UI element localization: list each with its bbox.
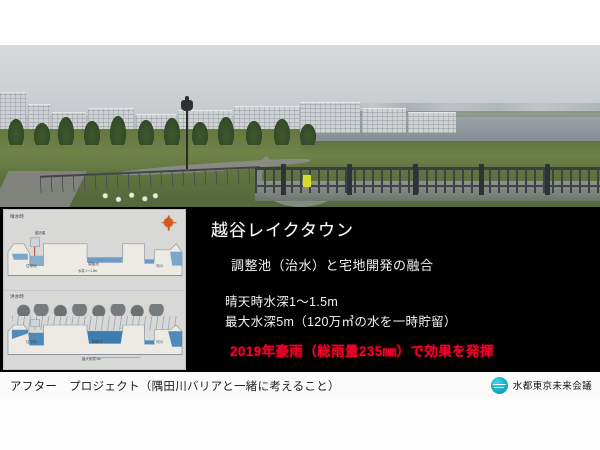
top-white-margin: [0, 0, 600, 45]
diagram-flood-depth-caption: 最大水深 5m: [82, 356, 101, 361]
diagram-fair-gate-caption: 越流堰: [35, 230, 45, 235]
page-title: 越谷レイクタウン: [211, 216, 354, 241]
detail-line-2: 最大水深5m（120万㎥の水を一時貯留）: [225, 311, 457, 330]
diagram-flood: 洪水時 住宅地 調整池 最大水深 5m 河川: [4, 290, 185, 370]
park-lake-photo: [0, 45, 600, 207]
diagram-fair-left-caption: 住宅地: [26, 264, 37, 269]
organization-name: 水都東京未来会議: [513, 378, 592, 392]
water-city-circle-icon: [491, 377, 508, 394]
street-lamp-finial: [185, 96, 189, 101]
diagram-fair-weather: 晴水時 住宅地 調整池 水深 1〜1.5m 河川 越流堰: [4, 210, 185, 290]
diagram-flood-left-caption: 住宅地: [26, 340, 37, 345]
caption-text: アフター プロジェクト（隅田川バリアと一緒に考えること）: [10, 378, 340, 394]
subtitle: 調整池（治水）と宅地開発の融合: [231, 255, 434, 274]
diagram-fair-basin-caption: 調整池: [88, 262, 99, 267]
flower-patch: [96, 191, 162, 203]
street-lamp-head: [181, 100, 193, 111]
bottom-white-margin: [0, 398, 600, 450]
detail-line-1: 晴天時水深1〜1.5m: [225, 291, 338, 310]
text-column: 越谷レイクタウン 調整池（治水）と宅地開発の融合 晴天時水深1〜1.5m 最大水…: [197, 207, 600, 372]
caption-bar: アフター プロジェクト（隅田川バリアと一緒に考えること） 水都東京未来会議: [0, 372, 600, 399]
highlight-statement: 2019年豪雨（総雨量235㎜）で効果を発揮: [230, 340, 494, 360]
street-lamp-post: [186, 107, 188, 169]
organization-logo: 水都東京未来会議: [491, 375, 592, 395]
cross-section-svg-fair: [4, 210, 185, 290]
railing-left: [40, 171, 260, 189]
tree-row: [0, 115, 330, 145]
retention-basin-diagram: 晴水時 住宅地 調整池 水深 1〜1.5m 河川 越流堰 洪水時: [3, 209, 186, 370]
yellow-warning-sign: [303, 175, 311, 187]
diagram-fair-right-caption: 河川: [156, 264, 163, 269]
diagram-flood-right-caption: 河川: [156, 340, 163, 345]
diagram-flood-basin-caption: 調整池: [92, 340, 103, 345]
diagram-fair-depth-caption: 水深 1〜1.5m: [78, 268, 97, 273]
diagram-flood-label: 洪水時: [10, 294, 24, 300]
slide-root: 晴水時 住宅地 調整池 水深 1〜1.5m 河川 越流堰 洪水時: [0, 0, 600, 450]
